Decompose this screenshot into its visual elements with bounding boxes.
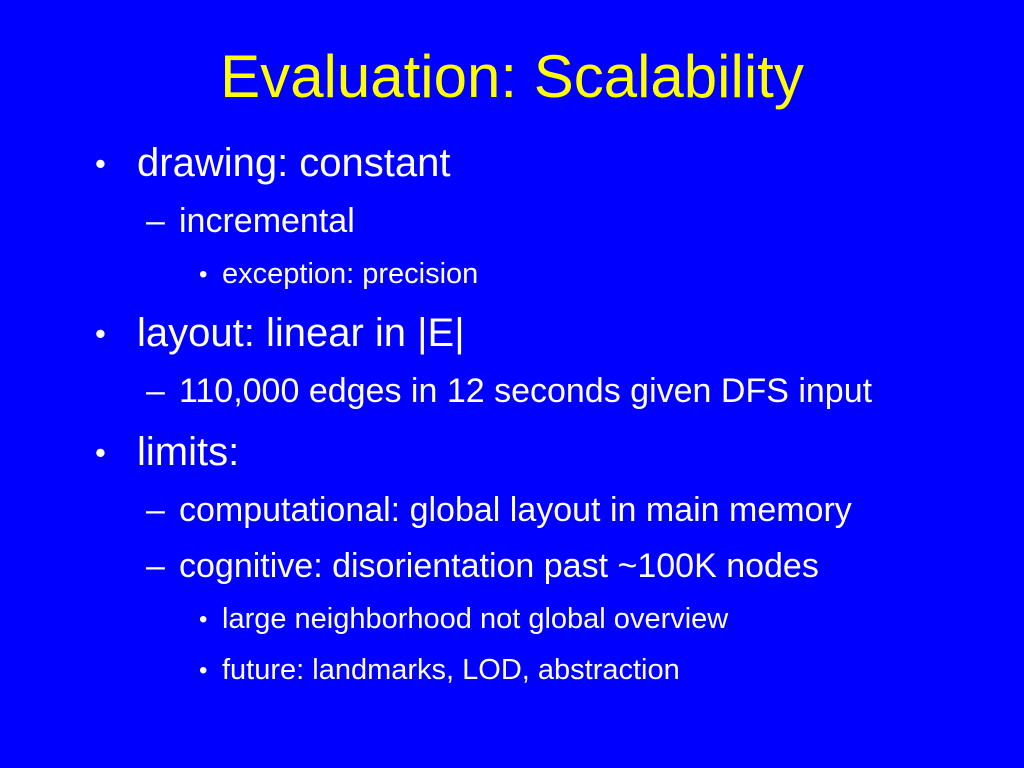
bullet-level2-cognitive: – cognitive: disorientation past ~100K n… <box>0 538 1024 594</box>
bullet-marker-icon: • <box>199 594 222 645</box>
dash-marker-icon: – <box>146 538 179 594</box>
bullet-text: exception: precision <box>222 249 478 300</box>
dash-marker-icon: – <box>146 363 179 419</box>
bullet-level1-drawing: • drawing: constant <box>0 134 1024 193</box>
dash-marker-icon: – <box>146 193 179 249</box>
bullet-level1-layout: • layout: linear in |E| <box>0 304 1024 363</box>
bullet-level1-limits: • limits: <box>0 423 1024 482</box>
bullet-text: incremental <box>179 193 355 249</box>
bullet-text: computational: global layout in main mem… <box>179 482 852 538</box>
bullet-level3-neighborhood: • large neighborhood not global overview <box>0 594 1024 645</box>
bullet-level2-computational: – computational: global layout in main m… <box>0 482 1024 538</box>
bullet-marker-icon: • <box>95 423 137 482</box>
bullet-level3-future: • future: landmarks, LOD, abstraction <box>0 645 1024 696</box>
bullet-level2-edges: – 110,000 edges in 12 seconds given DFS … <box>0 363 1024 419</box>
bullet-marker-icon: • <box>95 304 137 363</box>
bullet-marker-icon: • <box>199 645 222 696</box>
bullet-text: 110,000 edges in 12 seconds given DFS in… <box>179 363 872 419</box>
dash-marker-icon: – <box>146 482 179 538</box>
slide-body-outline: • drawing: constant – incremental • exce… <box>0 134 1024 696</box>
bullet-text: limits: <box>137 423 239 482</box>
bullet-text: drawing: constant <box>137 134 451 193</box>
bullet-text: layout: linear in |E| <box>137 304 465 363</box>
bullet-marker-icon: • <box>95 134 137 193</box>
bullet-text: future: landmarks, LOD, abstraction <box>222 645 680 696</box>
bullet-text: large neighborhood not global overview <box>222 594 728 645</box>
bullet-level2-incremental: – incremental <box>0 193 1024 249</box>
page-title: Evaluation: Scalability <box>0 44 1024 110</box>
bullet-marker-icon: • <box>199 249 222 300</box>
bullet-text: cognitive: disorientation past ~100K nod… <box>179 538 819 594</box>
presentation-slide: Evaluation: Scalability • drawing: const… <box>0 0 1024 768</box>
bullet-level3-exception: • exception: precision <box>0 249 1024 300</box>
